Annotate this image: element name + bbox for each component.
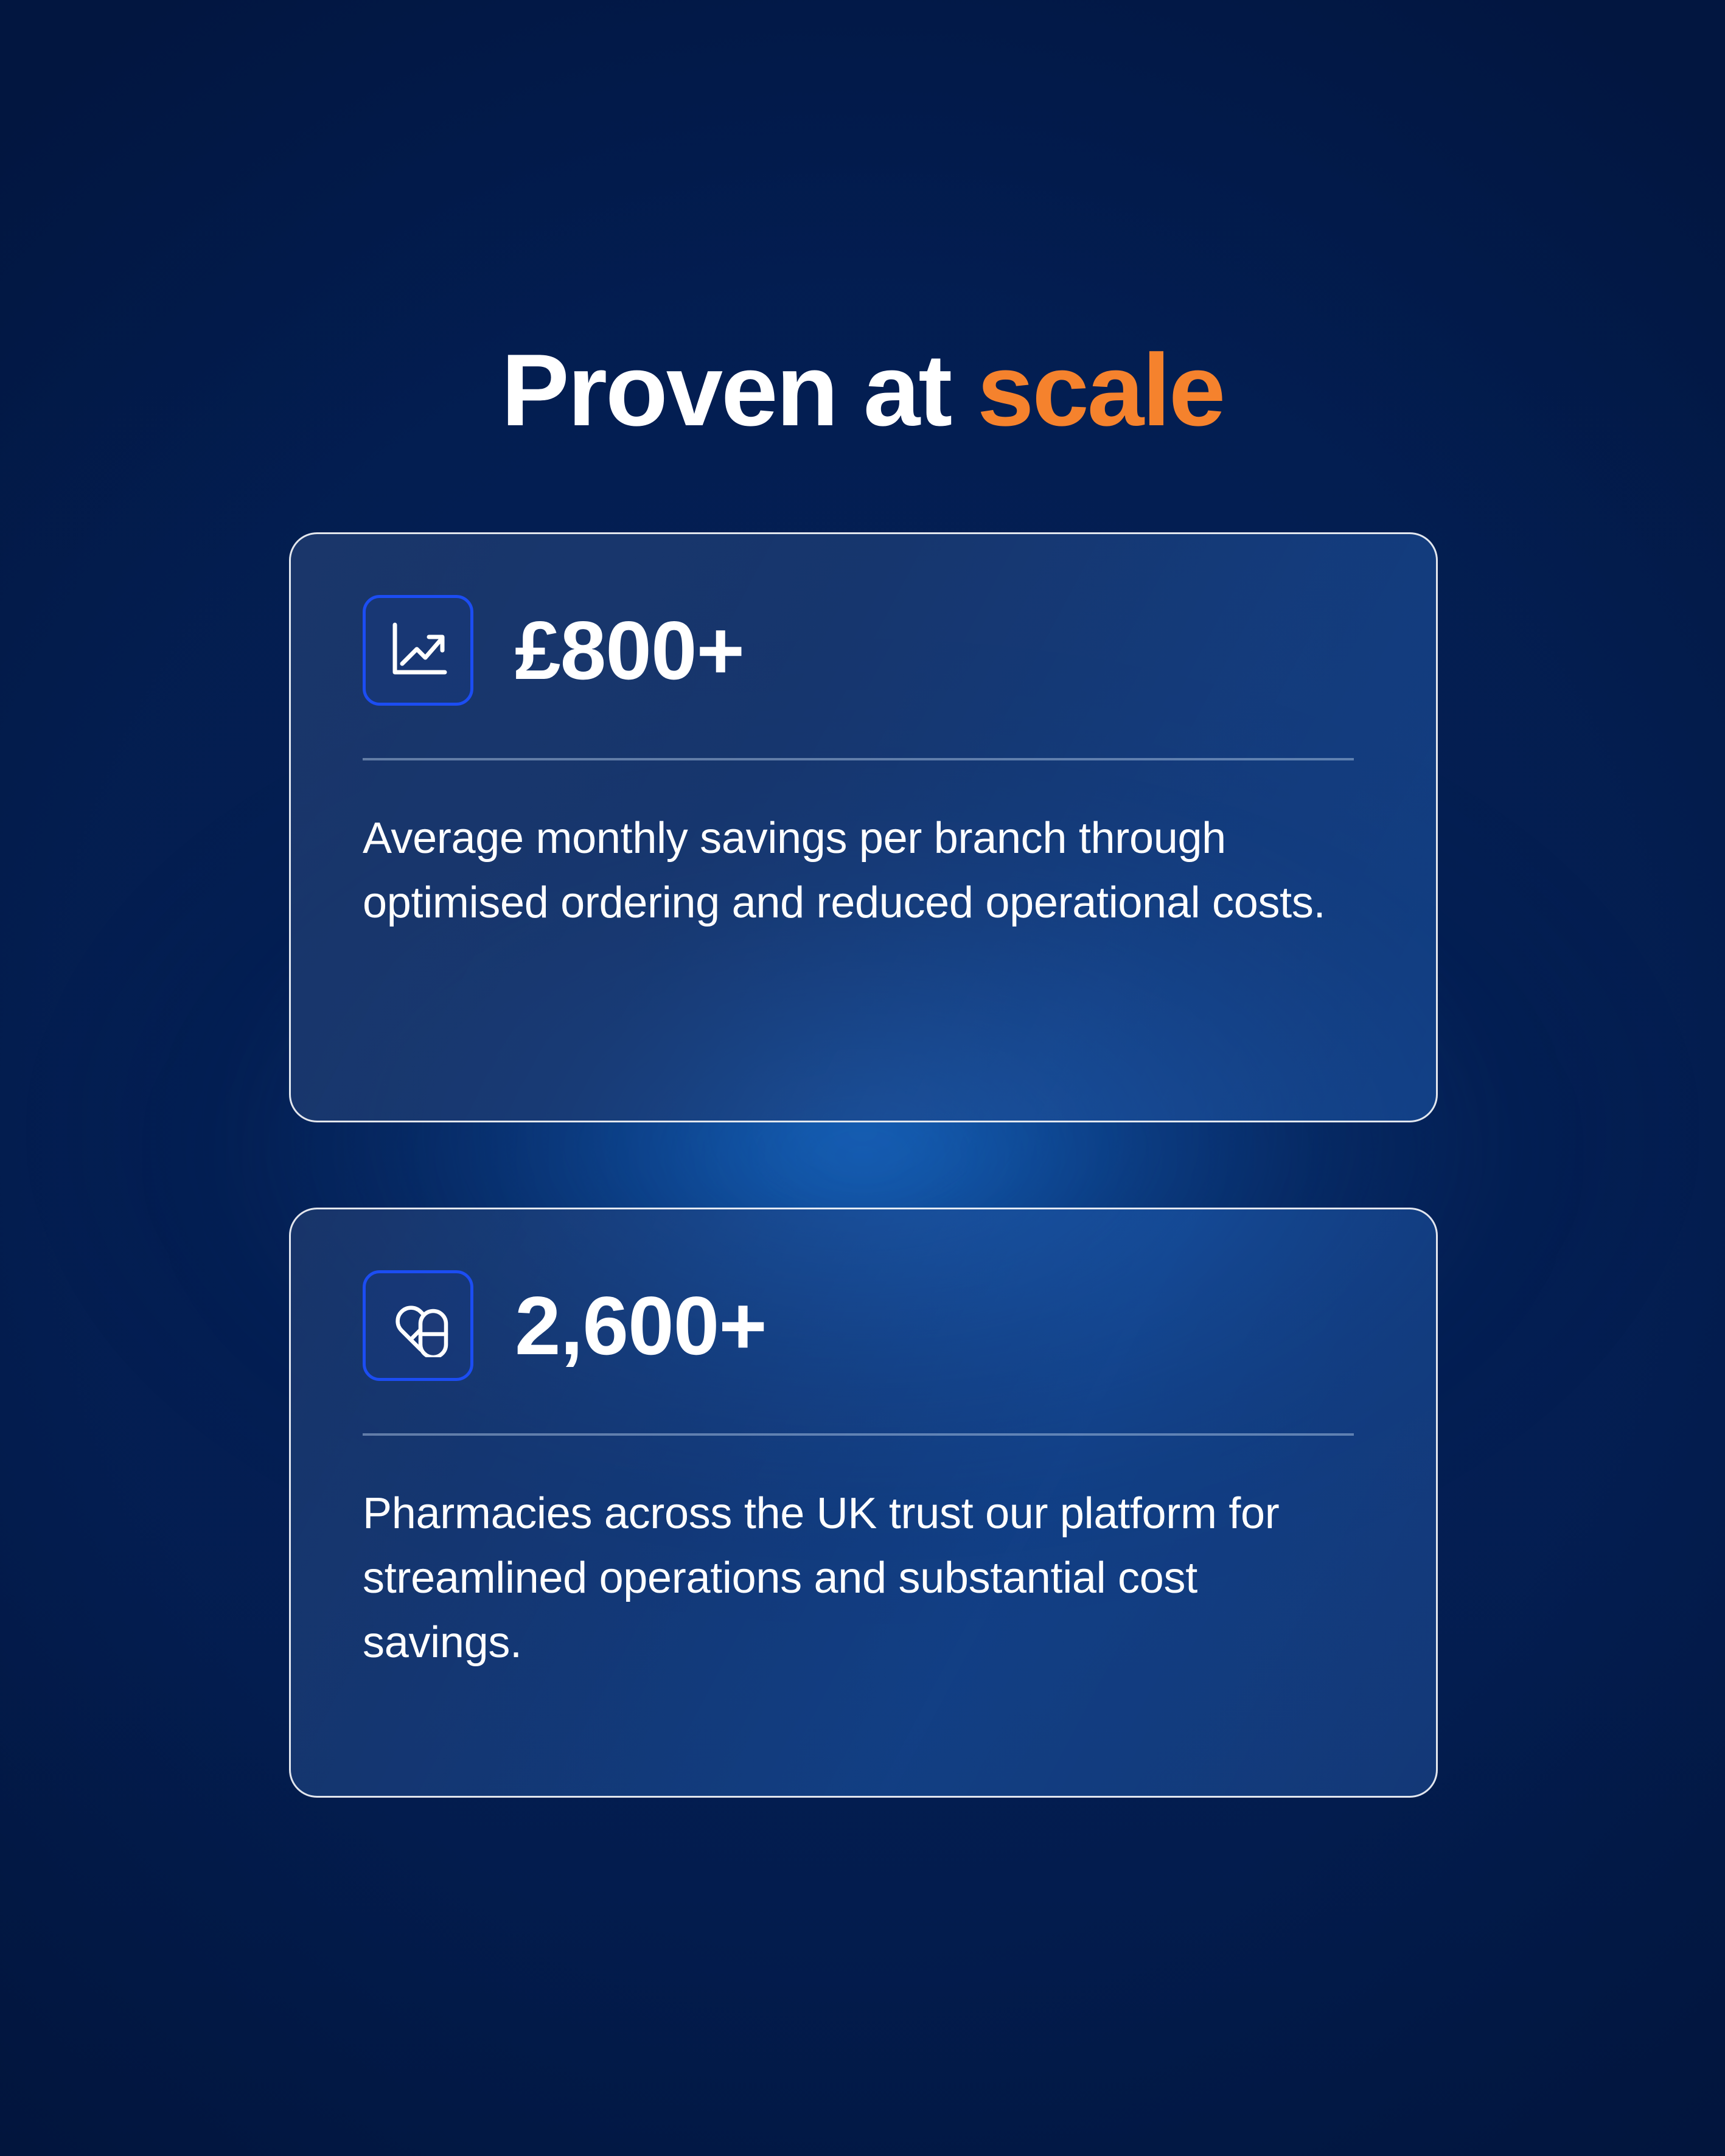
stat-description: Average monthly savings per branch throu… xyxy=(363,807,1354,936)
heading-accent-text: scale xyxy=(977,333,1224,447)
stat-card-header: 2,600+ xyxy=(363,1270,1354,1381)
stat-card-header: £800+ xyxy=(363,595,1354,706)
card-divider xyxy=(363,1433,1354,1436)
stat-card-content: £800+ Average monthly savings per branch… xyxy=(291,534,1436,936)
stat-card-pharmacies[interactable]: 2,600+ Pharmacies across the UK trust ou… xyxy=(289,1208,1438,1798)
stats-section: Proven at scale £800+ Average monthly sa… xyxy=(0,0,1725,2156)
section-heading: Proven at scale xyxy=(0,335,1725,445)
stat-card-savings[interactable]: £800+ Average monthly savings per branch… xyxy=(289,532,1438,1122)
chart-line-up-icon xyxy=(363,595,473,706)
stat-description: Pharmacies across the UK trust our platf… xyxy=(363,1482,1354,1675)
stat-value: £800+ xyxy=(515,609,744,692)
stat-value: 2,600+ xyxy=(515,1284,767,1367)
stat-card-content: 2,600+ Pharmacies across the UK trust ou… xyxy=(291,1209,1436,1675)
card-divider xyxy=(363,758,1354,760)
pills-icon xyxy=(363,1270,473,1381)
heading-primary-text: Proven at xyxy=(501,333,977,447)
